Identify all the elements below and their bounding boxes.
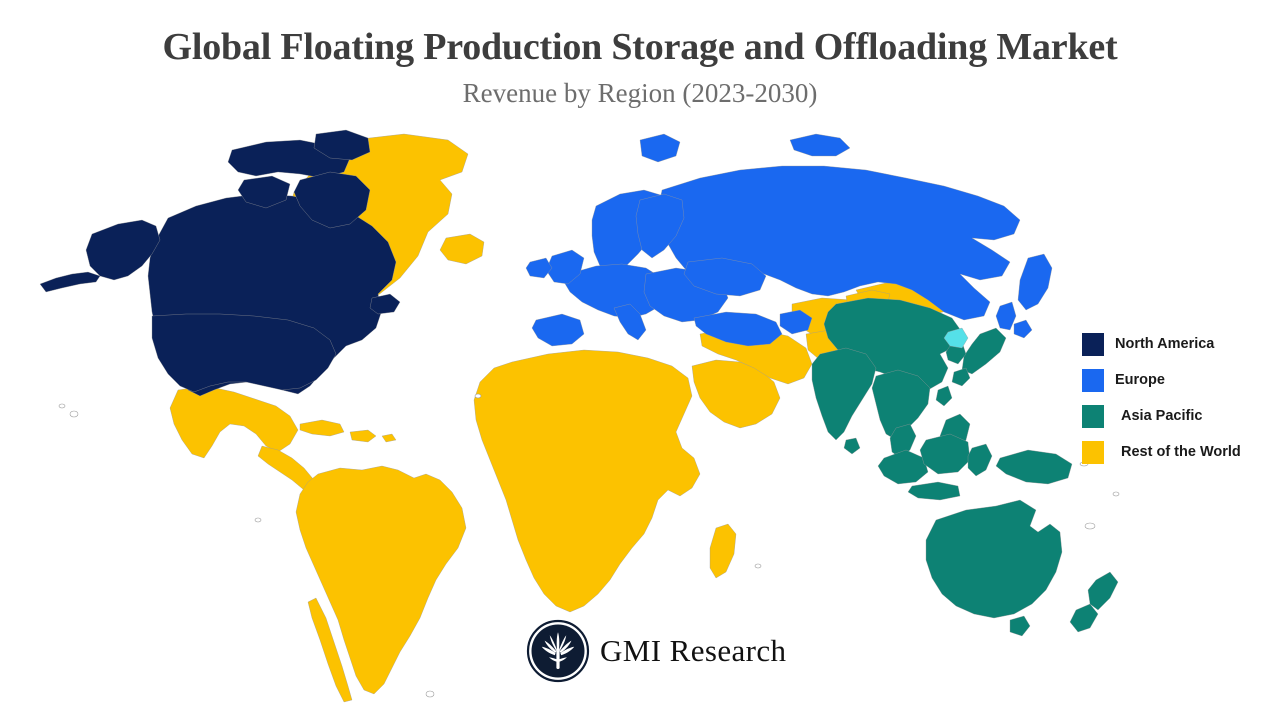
islands-aleutian — [40, 272, 100, 292]
island-hispaniola — [350, 430, 376, 442]
island-sumatra — [878, 450, 928, 484]
islands-novaya-zemlya — [790, 134, 850, 156]
legend-label-rest-of-the-world: Rest of the World — [1121, 444, 1241, 460]
legend-item-asia-pacific[interactable]: Asia Pacific — [1082, 398, 1280, 434]
country-papua-new-guinea — [996, 450, 1072, 484]
island-sulawesi — [968, 444, 992, 476]
country-australia — [926, 500, 1062, 618]
island-puerto-rico — [382, 434, 396, 442]
island-falkland — [426, 691, 434, 697]
region-europe — [526, 134, 1052, 346]
region-kamchatka — [1018, 254, 1052, 310]
country-iceland — [440, 234, 484, 264]
island-hawaii-a — [59, 404, 65, 408]
map-legend: North America Europe Asia Pacific Rest o… — [1082, 326, 1280, 470]
legend-swatch-north-america — [1082, 333, 1104, 356]
page-subtitle: Revenue by Region (2023-2030) — [0, 76, 1280, 110]
island-java — [908, 482, 960, 500]
island-borneo — [920, 434, 970, 474]
continent-africa — [474, 350, 700, 612]
brand-watermark: GMI Research — [526, 619, 786, 683]
country-sri-lanka — [844, 438, 860, 454]
legend-item-rest-of-the-world[interactable]: Rest of the World — [1082, 434, 1280, 470]
legend-label-north-america: North America — [1115, 336, 1214, 352]
island-kuril — [1014, 320, 1032, 338]
country-india — [812, 348, 876, 440]
island-tasmania — [1010, 616, 1030, 636]
page-title: Global Floating Production Storage and O… — [0, 24, 1280, 70]
island-fiji — [1113, 492, 1119, 496]
chart-header: Global Floating Production Storage and O… — [0, 0, 1280, 110]
island-hawaii-b — [70, 411, 78, 417]
region-asia-pacific — [812, 298, 1118, 636]
legend-swatch-europe — [1082, 369, 1104, 392]
legend-item-europe[interactable]: Europe — [1082, 362, 1280, 398]
island-new-caledonia — [1085, 523, 1095, 529]
region-iberia — [532, 314, 584, 346]
island-madagascar — [710, 524, 736, 578]
legend-label-asia-pacific: Asia Pacific — [1121, 408, 1202, 424]
country-japan — [962, 328, 1006, 374]
island-nz-south — [1070, 604, 1098, 632]
island-ireland — [526, 258, 552, 278]
legend-item-north-america[interactable]: North America — [1082, 326, 1280, 362]
legend-swatch-asia-pacific — [1082, 405, 1104, 428]
country-mexico — [170, 386, 298, 458]
legend-swatch-rest-of-the-world — [1082, 441, 1104, 464]
island-sakhalin — [996, 302, 1016, 330]
country-new-zealand — [1088, 572, 1118, 610]
region-south-america — [296, 466, 466, 694]
islands-svalbard — [640, 134, 680, 162]
palm-fan-emblem-icon — [526, 619, 590, 683]
region-caribbean — [300, 420, 344, 436]
island-mauritius — [755, 564, 761, 568]
brand-name: GMI Research — [600, 633, 786, 669]
island-taiwan — [936, 386, 952, 406]
legend-label-europe: Europe — [1115, 372, 1165, 388]
island-galapagos — [255, 518, 261, 522]
island-cape-verde — [475, 394, 481, 398]
